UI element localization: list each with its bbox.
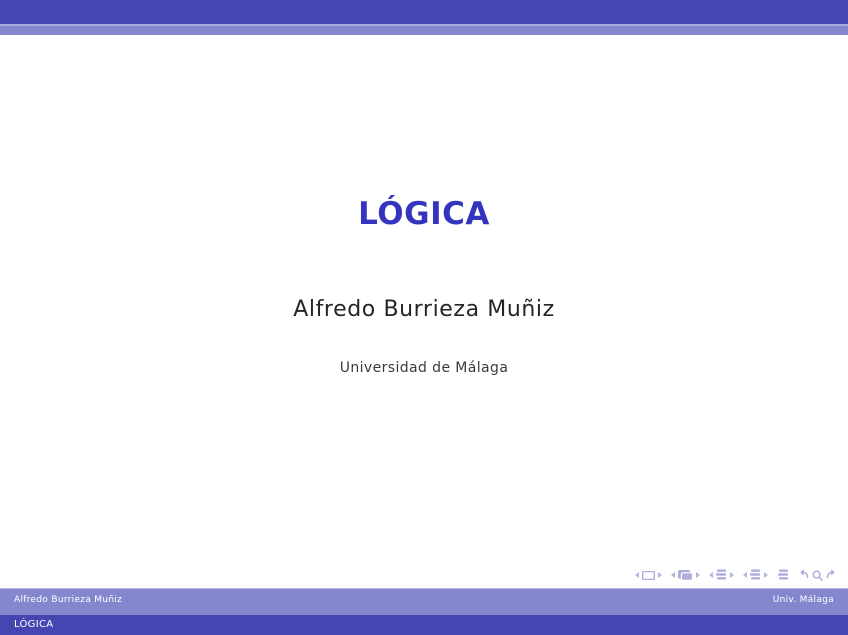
frame-previous-icon[interactable] [671,572,675,578]
section-next-icon[interactable] [764,572,768,578]
page-title: LÓGICA [0,198,848,231]
subsection-navigation-group[interactable] [709,569,734,581]
document-icon[interactable] [778,569,789,581]
navigation-symbols[interactable] [635,567,836,583]
headline-bar-light [0,26,848,35]
frame-navigation-group[interactable] [671,570,700,581]
slide-next-icon[interactable] [658,572,662,578]
footer-institute-text: Univ. Málaga [773,595,834,605]
beamer-slide: LÓGICA Alfredo Burrieza Muñiz Universida… [0,0,848,635]
subsection-icon[interactable] [716,569,727,581]
headline-bar-dark [0,0,848,24]
section-previous-icon[interactable] [743,572,747,578]
section-icon[interactable] [750,569,761,581]
slide-footer: Alfredo Burrieza Muñiz Univ. Málaga LÓGI… [0,588,848,635]
frame-next-icon[interactable] [696,572,700,578]
section-navigation-group[interactable] [743,569,768,581]
slide-icon[interactable] [642,571,655,580]
footer-author-bar: Alfredo Burrieza Muñiz Univ. Málaga [0,589,848,615]
slide-headline-bars [0,0,848,35]
subsection-previous-icon[interactable] [709,572,713,578]
footer-title-bar: LÓGICA [0,615,848,635]
search-icon[interactable] [812,570,823,581]
footer-author-text: Alfredo Burrieza Muñiz [14,595,122,605]
subsection-next-icon[interactable] [730,572,734,578]
forward-icon[interactable] [826,570,836,580]
frame-icon[interactable] [678,570,693,581]
title-page: LÓGICA Alfredo Burrieza Muñiz Universida… [0,35,848,585]
institute-name: Universidad de Málaga [0,360,848,376]
slide-navigation-group[interactable] [635,571,662,580]
author-name: Alfredo Burrieza Muñiz [0,297,848,322]
slide-previous-icon[interactable] [635,572,639,578]
footer-title-text: LÓGICA [14,619,53,630]
back-icon[interactable] [799,570,809,580]
